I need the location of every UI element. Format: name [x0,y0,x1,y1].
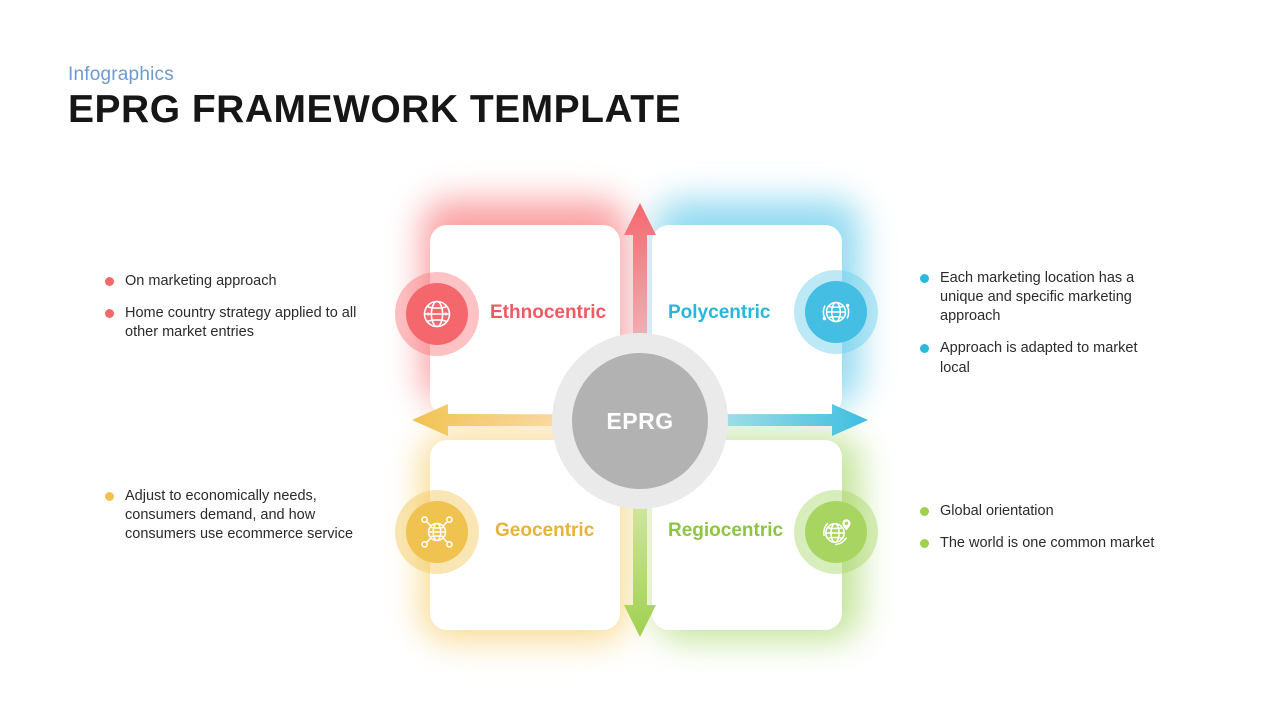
icon-badge-ethnocentric[interactable] [395,272,479,356]
list-item: Adjust to economically needs, consumers … [105,487,375,544]
list-item-text: Adjust to economically needs, consumers … [125,487,375,544]
bullet-dot-icon [105,277,114,286]
bullet-dot-icon [920,507,929,516]
bullet-dot-icon [920,344,929,353]
list-item-text: Home country strategy applied to all oth… [125,304,360,342]
eyebrow-label: Infographics [68,64,174,86]
list-item: Each marketing location has a unique and… [920,269,1155,326]
page-title: EPRG FRAMEWORK TEMPLATE [68,88,681,132]
bullet-dot-icon [105,309,114,318]
list-item-text: Global orientation [940,502,1054,521]
eprg-diagram: Ethnocentric Polycentric Geocentric Regi… [400,185,880,655]
icon-badge-core [406,283,468,345]
icon-badge-polycentric[interactable] [794,270,878,354]
icon-badge-core [406,501,468,563]
bullet-block-polycentric: Each marketing location has a unique and… [920,269,1155,378]
list-item: Home country strategy applied to all oth… [105,304,360,342]
bullet-dot-icon [920,539,929,548]
list-item-text: Each marketing location has a unique and… [940,269,1155,326]
bullet-dot-icon [920,274,929,283]
globe-icon [419,296,455,332]
bullet-dot-icon [105,492,114,501]
list-item-text: The world is one common market [940,534,1154,553]
slide-canvas: Infographics EPRG FRAMEWORK TEMPLATE On … [0,0,1280,720]
quadrant-label-polycentric: Polycentric [668,302,770,324]
icon-badge-core [805,281,867,343]
eprg-hub-inner: EPRG [572,353,708,489]
list-item-text: Approach is adapted to market local [940,339,1155,377]
eprg-hub[interactable]: EPRG [552,333,728,509]
list-item: On marketing approach [105,272,360,291]
list-item-text: On marketing approach [125,272,277,291]
quadrant-label-ethnocentric: Ethnocentric [490,302,606,324]
quadrant-label-geocentric: Geocentric [495,520,594,542]
list-item: Approach is adapted to market local [920,339,1155,377]
globe-network-icon [417,512,457,552]
bullet-block-regiocentric: Global orientation The world is one comm… [920,502,1170,553]
icon-badge-geocentric[interactable] [395,490,479,574]
globe-pin-icon [817,513,855,551]
bullet-block-ethnocentric: On marketing approach Home country strat… [105,272,360,342]
icon-badge-core [805,501,867,563]
eprg-hub-label: EPRG [606,408,673,435]
globe-refresh-icon [817,293,855,331]
icon-badge-regiocentric[interactable] [794,490,878,574]
list-item: The world is one common market [920,534,1170,553]
bullet-block-geocentric: Adjust to economically needs, consumers … [105,487,375,544]
quadrant-label-regiocentric: Regiocentric [668,520,783,542]
list-item: Global orientation [920,502,1170,521]
